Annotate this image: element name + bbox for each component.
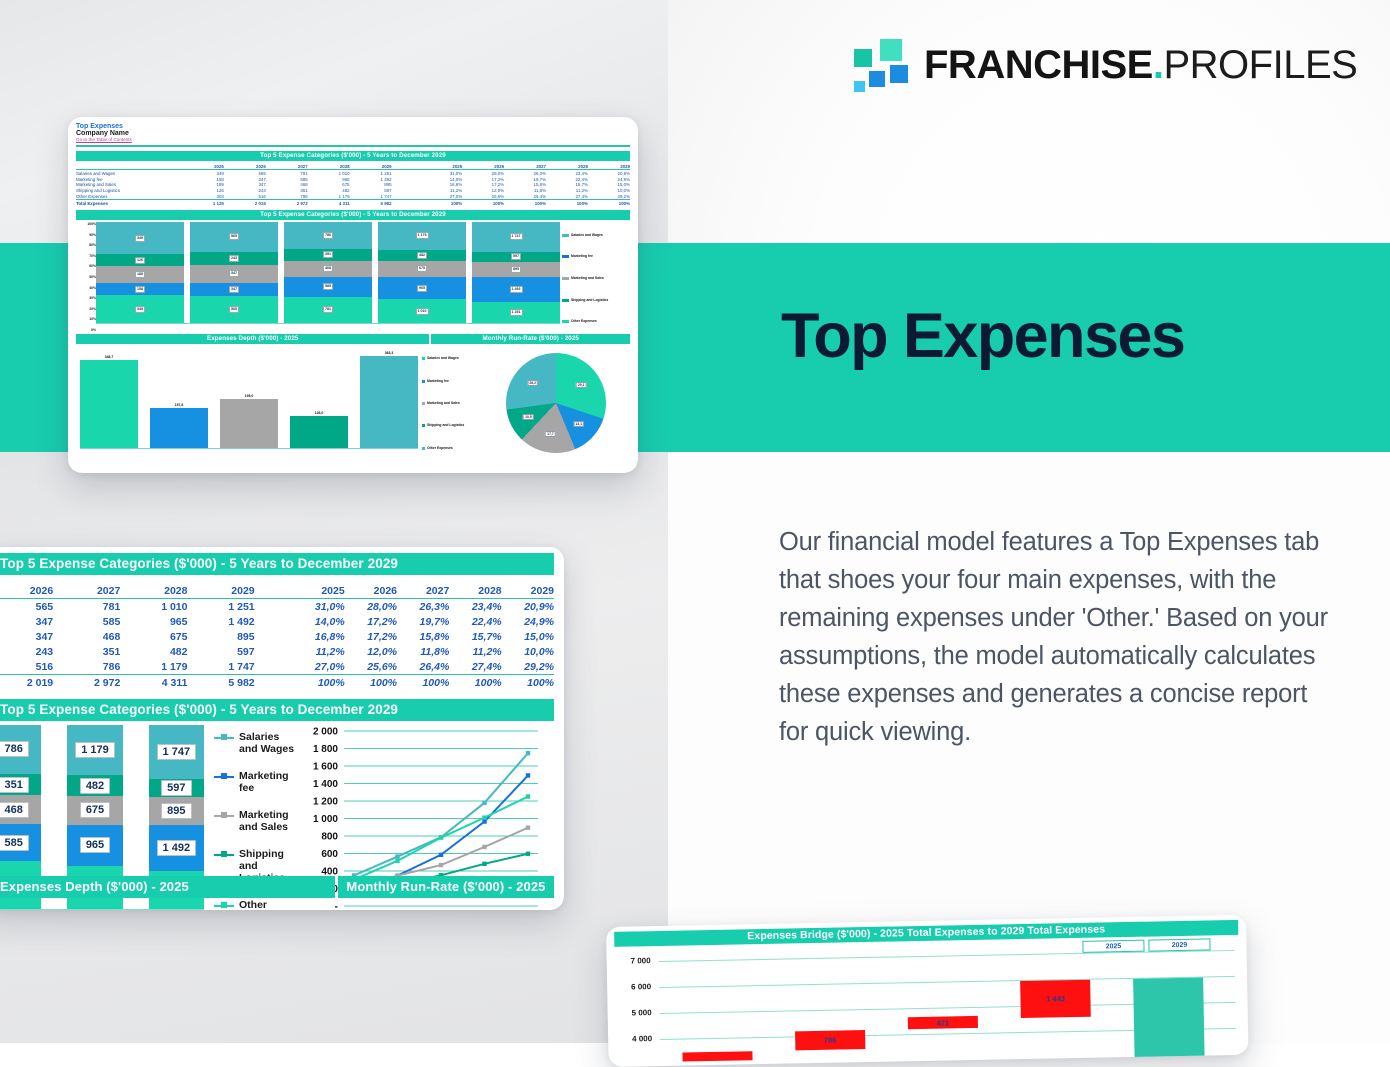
segment-value-label: 1 747	[157, 744, 197, 760]
table-header-row: 202620272028202920252026202720282029	[0, 583, 554, 599]
depth-bar-column: 363,3	[360, 347, 418, 448]
table-of-contents-link[interactable]: Go to the Table of Contents	[76, 137, 630, 142]
cell-value: 1 179	[120, 659, 187, 675]
y-tick: 30%	[78, 296, 96, 300]
col-header: 2026	[0, 583, 53, 599]
stacked-segment: 1 747	[149, 725, 204, 779]
cell-pct: 17,2%	[345, 629, 397, 644]
segment-value-label: 349	[135, 235, 145, 242]
cell-value: 965	[120, 614, 187, 629]
expense-table-zoom: 2026202720282029202520262027202820295657…	[0, 583, 554, 690]
y-tick: 20%	[78, 307, 96, 311]
legend-item: Marketing and Sales	[214, 809, 300, 833]
legend-label: Salaries and Wages	[427, 356, 459, 360]
stacked-segment: 965	[378, 277, 466, 300]
legend-item: Other Expenses	[422, 446, 500, 450]
legend-marker-icon	[562, 299, 569, 302]
segment-value-label: 468	[323, 265, 333, 272]
stacked-bar-column: 786351468585781	[284, 222, 372, 323]
sheet-subtitle: Company Name	[76, 130, 630, 137]
waterfall-bar: 471	[908, 1016, 978, 1030]
legend-label: Marketing and Sales	[239, 809, 300, 833]
band-depth-zoom: Expenses Depth ($'000) - 2025	[0, 876, 335, 898]
svg-text:1 400: 1 400	[313, 779, 338, 790]
cell-pct: 28,0%	[345, 599, 397, 615]
segment-value-label: 347	[229, 286, 239, 293]
segment-value-label: 482	[80, 778, 110, 794]
bar-value-label: 1 443	[1046, 994, 1065, 1003]
run-rate-pie-chart-top: 29,113,117,710,526,2	[506, 353, 606, 453]
stacked-segment: 158	[96, 283, 184, 295]
stacked-segment: 1 179	[378, 222, 466, 250]
depth-bar	[150, 408, 208, 448]
stacked-segment: 468	[0, 795, 41, 824]
logo-light-text: PROFILES	[1163, 43, 1357, 87]
legend-label: Marketing fee	[239, 770, 300, 794]
cell-value: 347	[0, 614, 53, 629]
col-header-pct: 2028	[449, 583, 501, 599]
stacked-segment: 597	[149, 779, 204, 797]
depth-bar-column: 126,0	[290, 347, 348, 448]
cell-pct: 14,0%	[292, 614, 344, 629]
y-tick: 50%	[78, 275, 96, 279]
col-header: 2027	[53, 583, 120, 599]
legend-label: Salaries and Wages	[571, 233, 603, 237]
brand-logo: FRANCHISE.PROFILES	[852, 37, 1357, 93]
cell-value: 597	[187, 644, 254, 659]
cell-pct: 27,0%	[292, 659, 344, 675]
table-row: 5657811 0101 25131,0%28,0%26,3%23,4%20,9…	[0, 599, 554, 615]
cell-value: 1 251	[187, 599, 254, 615]
cell-pct: 19,7%	[397, 614, 449, 629]
legend-marker-icon	[422, 447, 425, 450]
legend-marker-icon	[214, 850, 234, 859]
segment-value-label: 786	[0, 741, 29, 757]
cell-value: 1 010	[120, 599, 187, 615]
stacked-segment: 351	[0, 774, 41, 796]
depth-bar-column: 195,0	[220, 347, 278, 448]
cell-pct: 29,2%	[502, 659, 554, 675]
depth-bar	[360, 356, 418, 448]
cell-value: 243	[0, 644, 53, 659]
segment-value-label: 347	[229, 270, 239, 277]
page-title: Top Expenses	[781, 305, 1184, 368]
legend-marker-icon	[422, 424, 425, 427]
depth-bar-column: 348,7	[80, 347, 138, 448]
stacked-segment: 347	[190, 265, 278, 283]
stacked-segment: 675	[378, 261, 466, 277]
stacked-segment: 482	[378, 250, 466, 261]
depth-and-pie-row: 348,7157,8195,0126,0363,3 Salaries and W…	[76, 347, 630, 459]
svg-text:1 600: 1 600	[313, 762, 338, 773]
table-total-row: Total Expenses1 1252 0192 9724 3115 9821…	[76, 200, 630, 206]
depth-bar	[290, 416, 348, 448]
bar-value-label: 126,0	[315, 411, 324, 415]
table-row: 34746867589516,8%17,2%15,8%15,7%15,0%	[0, 629, 554, 644]
cell-value: 351	[53, 644, 120, 659]
logo-dot: .	[1153, 43, 1164, 87]
bar-value-label: 471	[937, 1018, 950, 1027]
segment-value-label: 597	[511, 253, 521, 260]
waterfall-legend-item[interactable]: 2025	[1082, 940, 1144, 953]
cell-value: 585	[53, 614, 120, 629]
stacked-segment: 482	[67, 775, 122, 796]
logo-squares-icon	[852, 37, 908, 93]
segment-value-label: 786	[323, 232, 333, 239]
cell-value: 781	[53, 599, 120, 615]
segment-value-label: 895	[511, 266, 521, 273]
cell-pct: 17,2%	[345, 614, 397, 629]
y-tick: 70%	[78, 254, 96, 258]
svg-text:1 000: 1 000	[313, 814, 338, 825]
stacked-segment: 1 179	[67, 725, 122, 775]
stacked-segment: 243	[190, 252, 278, 265]
waterfall-legend-item[interactable]: 2029	[1148, 938, 1210, 951]
cell-pct: 11,2%	[449, 644, 501, 659]
band-categories-table: Top 5 Expense Categories ($'000) - 5 Yea…	[0, 553, 554, 575]
stacked-segment: 126	[96, 254, 184, 266]
band-categories-chart-zoom: Top 5 Expense Categories ($'000) - 5 Yea…	[0, 699, 554, 721]
y-tick: 4 000	[618, 1034, 652, 1044]
waterfall-bar	[1133, 977, 1206, 1067]
cell-value: 565	[0, 599, 53, 615]
stacked-segment: 597	[472, 252, 560, 262]
stacked-segment: 468	[284, 261, 372, 277]
grid-line	[659, 950, 1235, 962]
stacked-segment: 1 251	[472, 302, 560, 323]
svg-text:1 200: 1 200	[313, 797, 338, 808]
stacked-segment: 786	[284, 222, 372, 249]
stacked-segment: 585	[0, 824, 41, 860]
band-row-depth-runrate: Expenses Depth ($'000) - 2025 Monthly Ru…	[76, 334, 630, 344]
segment-value-label: 781	[323, 306, 333, 313]
hero-description: Our financial model features a Top Expen…	[779, 523, 1341, 751]
y-tick: 0%	[78, 328, 96, 332]
y-tick: 10%	[78, 317, 96, 321]
y-tick: 100%	[78, 222, 96, 226]
legend-label: Marketing and Sales	[427, 401, 460, 405]
col-header: 2029	[187, 583, 254, 599]
cell-value: 1 492	[187, 614, 254, 629]
pie-value-label: 29,1	[576, 382, 587, 388]
band-row-zoom: Expenses Depth ($'000) - 2025 Monthly Ru…	[0, 876, 554, 898]
screenshot-card-waterfall[interactable]: Expenses Bridge ($'000) - 2025 Total Exp…	[606, 915, 1249, 1067]
cell-pct: 26,4%	[397, 659, 449, 675]
y-tick: 80%	[78, 243, 96, 247]
legend-marker-icon	[214, 901, 234, 910]
segment-value-label: 349	[135, 306, 145, 313]
segment-value-label: 675	[80, 802, 110, 818]
svg-text:-: -	[335, 902, 338, 911]
legend-marker-icon	[214, 772, 234, 781]
segment-value-label: 565	[229, 233, 239, 240]
logo-bold-text: FRANCHISE	[924, 43, 1153, 87]
stacked-segment: 347	[190, 283, 278, 296]
segment-value-label: 126	[135, 257, 145, 264]
cell-pct: 11,8%	[397, 644, 449, 659]
stacked-segment: 189	[96, 266, 184, 283]
segment-value-label: 1 251	[510, 309, 523, 316]
legend-item: Other Expenses	[562, 319, 630, 323]
sheet-divider	[76, 145, 630, 147]
legend-item: Shipping and Logistics	[422, 423, 500, 427]
band-categories-chart: Top 5 Expense Categories ($'000) - 5 Yea…	[76, 210, 630, 220]
stacked-bar-column: 1 7475978951 4921 251	[472, 222, 560, 323]
legend-label: Other Expenses	[239, 899, 300, 910]
legend-marker-icon	[562, 277, 569, 280]
stacked-segment: 675	[67, 796, 122, 825]
segment-value-label: 1 492	[510, 286, 523, 293]
segment-value-label: 189	[135, 271, 145, 278]
line-series	[354, 753, 528, 875]
legend-marker-icon	[422, 357, 425, 360]
legend-item: Marketing and Sales	[562, 276, 630, 280]
sheet-title: Top Expenses	[76, 123, 630, 130]
legend-item: Salaries and Wages	[214, 731, 300, 755]
bar-value-label: 348,7	[105, 355, 114, 359]
legend-label: Shipping and Logistics	[427, 423, 464, 427]
segment-value-label: 1 179	[416, 232, 429, 239]
depth-bar	[80, 360, 138, 448]
waterfall-bar: 706	[795, 1030, 866, 1050]
cell-pct: 16,8%	[292, 629, 344, 644]
col-header-pct: 2027	[397, 583, 449, 599]
legend-item: Marketing fee	[422, 379, 500, 383]
pie-value-label: 17,7	[545, 431, 556, 437]
y-tick: 40%	[78, 286, 96, 290]
cell-value: 482	[120, 644, 187, 659]
logo-wordmark: FRANCHISE.PROFILES	[924, 43, 1357, 88]
table-row: 24335148259711,2%12,0%11,8%11,2%10,0%	[0, 644, 554, 659]
cell-pct: 15,0%	[502, 629, 554, 644]
legend-marker-icon	[562, 255, 569, 258]
segment-value-label: 1 492	[157, 840, 197, 856]
stacked-segment: 1 747	[472, 222, 560, 251]
table-row: 3475859651 49214,0%17,2%19,7%22,4%24,9%	[0, 614, 554, 629]
segment-value-label: 675	[417, 265, 427, 272]
stacked-segment: 585	[284, 277, 372, 297]
sheet-header: Top Expenses Company Name Go to the Tabl…	[76, 123, 630, 147]
bar-value-label: 195,0	[245, 394, 254, 398]
cell-value: 468	[53, 629, 120, 644]
legend-marker-icon	[562, 234, 569, 237]
cell-pct: 22,4%	[449, 614, 501, 629]
legend-marker-icon	[214, 733, 234, 742]
cell-value: 895	[187, 629, 254, 644]
segment-value-label: 585	[323, 283, 333, 290]
stacked-segment: 1 492	[472, 277, 560, 302]
screenshot-card-top[interactable]: Top Expenses Company Name Go to the Tabl…	[68, 117, 638, 473]
cell-pct: 10,0%	[502, 644, 554, 659]
bar-value-label: 706	[824, 1036, 837, 1045]
legend-marker-icon	[422, 402, 425, 405]
segment-value-label: 965	[417, 285, 427, 292]
segment-value-label: 243	[229, 255, 239, 262]
stacked-bar-column: 349126189158349	[96, 222, 184, 323]
y-tick: 5 000	[618, 1008, 652, 1018]
stacked-segment: 965	[67, 825, 122, 866]
cell-pct: 15,7%	[449, 629, 501, 644]
legend-label: Marketing and Sales	[571, 276, 604, 280]
stacked-segment: 349	[96, 222, 184, 254]
screenshot-card-bottom-left[interactable]: Top 5 Expense Categories ($'000) - 5 Yea…	[0, 547, 564, 910]
stacked-bar-column: 565243347347565	[190, 222, 278, 323]
segment-value-label: 895	[161, 803, 191, 819]
waterfall-bar: 1 443	[1020, 980, 1091, 1019]
cell-pct: 24,9%	[502, 614, 554, 629]
legend-label: Marketing fee	[571, 254, 593, 258]
segment-value-label: 1 010	[416, 308, 429, 315]
svg-text:1 800: 1 800	[313, 744, 338, 755]
legend-marker-icon	[562, 320, 569, 323]
segment-value-label: 482	[417, 252, 427, 259]
svg-text:800: 800	[321, 832, 338, 843]
legend-item: Other Expenses	[214, 899, 300, 910]
stacked-segment: 895	[149, 797, 204, 825]
col-header-pct: 2026	[345, 583, 397, 599]
cell-pct: 11,2%	[292, 644, 344, 659]
expense-table-top: 2025202620272028202920252026202720282029…	[76, 164, 630, 206]
legend-item: Salaries and Wages	[562, 233, 630, 237]
expenses-depth-chart-top: 348,7157,8195,0126,0363,3	[80, 347, 418, 449]
stacked-segment: 781	[284, 297, 372, 324]
band-depth-top: Expenses Depth ($'000) - 2025	[76, 334, 429, 344]
cell-value: 675	[120, 629, 187, 644]
segment-value-label: 351	[0, 777, 29, 793]
pie-value-label: 26,2	[527, 380, 538, 386]
segment-value-label: 468	[0, 802, 29, 818]
waterfall-chart: 4 0005 0006 0007 0007064711 44320252029	[614, 936, 1240, 1066]
stacked-bar-chart-top: 100%90%80%70%60%50%40%30%20%10%0% 349126…	[76, 222, 630, 332]
y-tick: 6 000	[617, 982, 651, 992]
y-tick: 90%	[78, 233, 96, 237]
stacked-segment: 786	[0, 725, 41, 774]
svg-text:600: 600	[321, 849, 338, 860]
cell-pct: 27,4%	[449, 659, 501, 675]
segment-value-label: 585	[0, 835, 29, 851]
cell-pct: 25,6%	[345, 659, 397, 675]
cell-pct: 12,0%	[345, 644, 397, 659]
legend-item: Marketing and Sales	[422, 401, 500, 405]
stacked-segment: 565	[190, 296, 278, 323]
col-header-pct: 2025	[292, 583, 344, 599]
segment-value-label: 965	[80, 837, 110, 853]
legend-item: Shipping and Logistics	[562, 298, 630, 302]
table-total-row: 2 0192 9724 3115 982100%100%100%100%100%	[0, 675, 554, 691]
segment-value-label: 597	[161, 780, 191, 796]
col-header-pct: 2029	[502, 583, 554, 599]
pie-value-label: 10,5	[523, 414, 534, 420]
band-runrate-zoom: Monthly Run-Rate ($'000) - 2025	[338, 876, 554, 898]
legend-marker-icon	[422, 380, 425, 383]
cell-pct: 26,3%	[397, 599, 449, 615]
segment-value-label: 1 747	[510, 233, 523, 240]
stacked-segment: 1 492	[149, 825, 204, 871]
depth-bar-column: 157,8	[150, 347, 208, 448]
legend-label: Other Expenses	[571, 319, 597, 323]
pie-value-label: 13,1	[573, 421, 584, 427]
stacked-segment: 1 010	[378, 299, 466, 323]
bar-value-label: 157,8	[175, 403, 184, 407]
segment-value-label: 351	[323, 251, 333, 258]
cell-value: 516	[0, 659, 53, 675]
segment-value-label: 565	[229, 306, 239, 313]
segment-value-label: 158	[135, 286, 145, 293]
legend-marker-icon	[214, 811, 234, 820]
legend-label: Shipping and Logistics	[571, 298, 608, 302]
band-categories-top: Top 5 Expense Categories ($'000) - 5 Yea…	[76, 151, 630, 161]
legend-label: Other Expenses	[427, 446, 453, 450]
stacked-segment: 349	[96, 295, 184, 323]
cell-pct: 20,9%	[502, 599, 554, 615]
stacked-segment: 351	[284, 249, 372, 261]
cell-pct: 31,0%	[292, 599, 344, 615]
legend-item: Salaries and Wages	[422, 356, 500, 360]
legend-label: Marketing fee	[427, 379, 449, 383]
cell-value: 347	[0, 629, 53, 644]
cell-pct: 23,4%	[449, 599, 501, 615]
legend-label: Salaries and Wages	[239, 731, 300, 755]
table-row: 5167861 1791 74727,0%25,6%26,4%27,4%29,2…	[0, 659, 554, 675]
waterfall-bar	[682, 1051, 752, 1062]
legend-item: Marketing fee	[214, 770, 300, 794]
band-runrate-top: Monthly Run-Rate ($'000) - 2025	[431, 334, 630, 344]
col-header: 2028	[120, 583, 187, 599]
y-tick: 60%	[78, 264, 96, 268]
cell-pct: 15,8%	[397, 629, 449, 644]
svg-text:2 000: 2 000	[313, 727, 338, 738]
cell-value: 1 747	[187, 659, 254, 675]
segment-value-label: 1 179	[75, 742, 115, 758]
stacked-segment: 895	[472, 262, 560, 277]
depth-bar	[220, 399, 278, 448]
stacked-segment: 565	[190, 222, 278, 252]
bar-value-label: 363,3	[385, 351, 394, 355]
legend-item: Marketing fee	[562, 254, 630, 258]
cell-value: 786	[53, 659, 120, 675]
y-tick: 7 000	[617, 957, 651, 967]
depth-legend-top: Salaries and WagesMarketing feeMarketing…	[422, 347, 500, 459]
stacked-bar-column: 1 1794826759651 010	[378, 222, 466, 323]
